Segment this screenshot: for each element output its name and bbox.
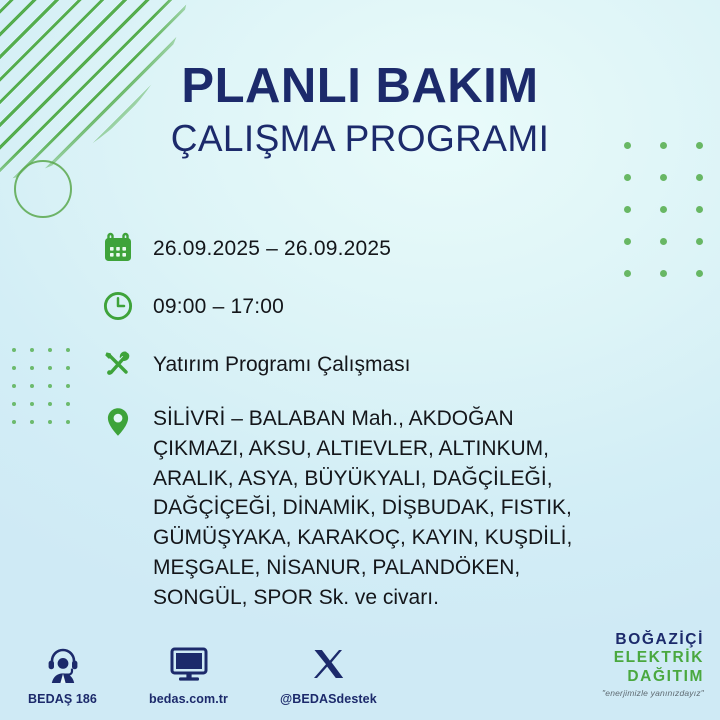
- page-title: PLANLI BAKIM: [0, 62, 720, 112]
- contact-phone-label: BEDAŞ 186: [28, 692, 97, 706]
- location-pin-icon: [96, 400, 140, 444]
- info-row-location: SİLİVRİ – BALABAN Mah., AKDOĞAN ÇIKMAZI,…: [96, 400, 696, 613]
- address-line: MEŞGALE, NİSANUR, PALANDÖKEN,: [153, 553, 572, 583]
- tools-icon: [96, 342, 140, 386]
- poster-canvas: PLANLI BAKIM ÇALIŞMA PROGRAMI: [0, 0, 720, 720]
- logo-tagline: "enerjimizle yanınızdayız": [602, 688, 704, 698]
- work-type-text: Yatırım Programı Çalışması: [153, 342, 411, 380]
- footer-contacts: BEDAŞ 186 bedas.com.tr @BEDASdestek: [28, 644, 377, 706]
- address-line: SONGÜL, SPOR Sk. ve civarı.: [153, 583, 572, 613]
- clock-icon: [96, 284, 140, 328]
- page-subtitle: ÇALIŞMA PROGRAMI: [0, 118, 720, 160]
- poster-header: PLANLI BAKIM ÇALIŞMA PROGRAMI: [0, 62, 720, 160]
- logo-line-bogazici: BOĞAZİÇİ: [602, 631, 704, 649]
- logo-line-elektrik: ELEKTRİK: [602, 649, 704, 667]
- dot-grid-left-decoration: [12, 348, 84, 438]
- circle-outline-decoration: [14, 160, 72, 218]
- location-text: SİLİVRİ – BALABAN Mah., AKDOĞAN ÇIKMAZI,…: [153, 400, 572, 613]
- monitor-website-icon: [149, 644, 228, 684]
- contact-social-label: @BEDASdestek: [280, 692, 377, 706]
- info-row-time: 09:00 – 17:00: [96, 284, 696, 328]
- contact-phone[interactable]: BEDAŞ 186: [28, 644, 97, 706]
- date-range-text: 26.09.2025 – 26.09.2025: [153, 226, 391, 264]
- x-twitter-icon: [280, 644, 377, 684]
- address-line: GÜMÜŞYAKA, KARAKOÇ, KAYIN, KUŞDİLİ,: [153, 523, 572, 553]
- info-row-date: 26.09.2025 – 26.09.2025: [96, 226, 696, 270]
- headset-support-icon: [28, 644, 97, 684]
- brand-logo: BOĞAZİÇİ ELEKTRİK DAĞITIM "enerjimizle y…: [602, 631, 704, 698]
- info-row-work-type: Yatırım Programı Çalışması: [96, 342, 696, 386]
- address-line: DAĞÇİÇEĞİ, DİNAMİK, DİŞBUDAK, FISTIK,: [153, 493, 572, 523]
- address-line: SİLİVRİ – BALABAN Mah., AKDOĞAN: [153, 404, 572, 434]
- contact-website-label: bedas.com.tr: [149, 692, 228, 706]
- time-range-text: 09:00 – 17:00: [153, 284, 284, 322]
- logo-line-dagitim: DAĞITIM: [602, 668, 704, 686]
- contact-social-x[interactable]: @BEDASdestek: [280, 644, 377, 706]
- contact-website[interactable]: bedas.com.tr: [149, 644, 228, 706]
- address-line: ÇIKMAZI, AKSU, ALTIEVLER, ALTINKUM,: [153, 434, 572, 464]
- address-line: ARALIK, ASYA, BÜYÜKYALI, DAĞÇİLEĞİ,: [153, 464, 572, 494]
- calendar-icon: [96, 226, 140, 270]
- info-list: 26.09.2025 – 26.09.2025 09:00 – 17:00: [96, 226, 696, 613]
